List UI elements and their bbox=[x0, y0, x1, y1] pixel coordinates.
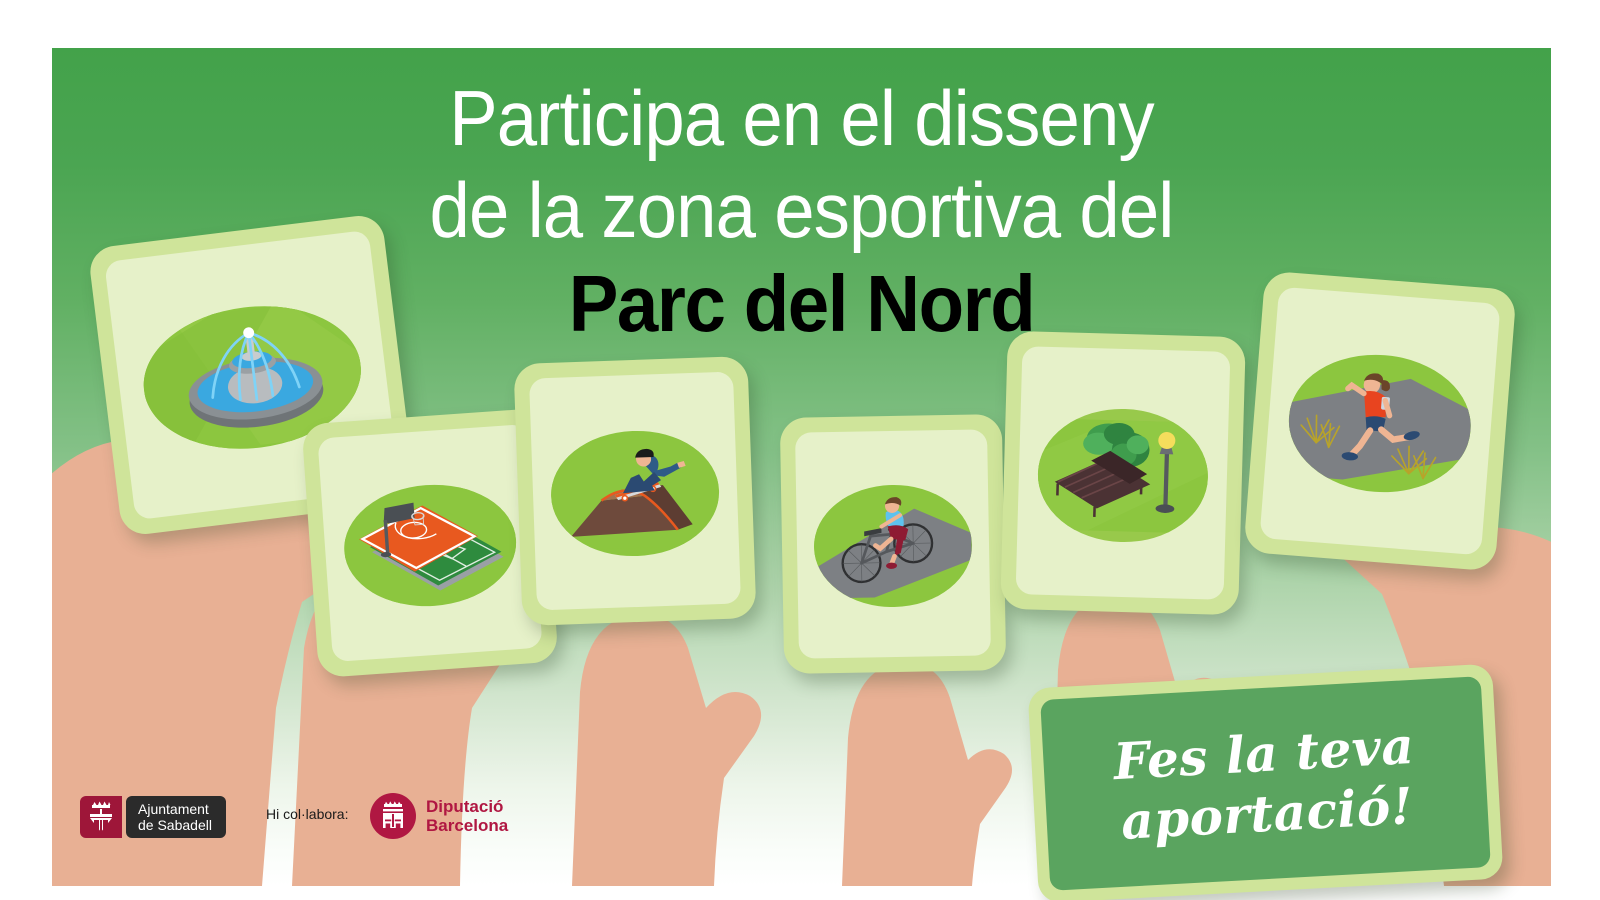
ajuntament-line-2: de Sabadell bbox=[138, 817, 212, 833]
card-bike-path[interactable] bbox=[780, 414, 1006, 674]
card-face bbox=[795, 429, 991, 658]
diputacio-crest-icon bbox=[370, 793, 416, 839]
card-face bbox=[317, 424, 542, 662]
card-face bbox=[1016, 346, 1231, 600]
card-face bbox=[1259, 287, 1500, 556]
runner-icon bbox=[1284, 349, 1476, 499]
diputacio-line-1: Diputació bbox=[426, 797, 508, 816]
card-running-path[interactable] bbox=[1243, 271, 1516, 572]
collaboration-label: Hi col·labora: bbox=[266, 806, 348, 822]
card-face bbox=[529, 372, 741, 611]
headline-line-1: Participa en el disseny bbox=[104, 72, 1498, 164]
ajuntament-line-1: Ajuntament bbox=[138, 801, 212, 817]
sabadell-crest-icon bbox=[80, 796, 122, 838]
ajuntament-sabadell-logo[interactable]: Ajuntament de Sabadell bbox=[80, 796, 226, 838]
banner-canvas: Participa en el disseny de la zona espor… bbox=[0, 0, 1600, 900]
skateboarder-icon bbox=[549, 428, 721, 559]
ajuntament-name: Ajuntament de Sabadell bbox=[126, 796, 226, 838]
footer-logos: Ajuntament de Sabadell Hi col·labora: bbox=[52, 790, 1551, 860]
diputacio-name: Diputació Barcelona bbox=[426, 797, 508, 835]
card-ground-ellipse bbox=[1284, 349, 1476, 499]
card-ground-ellipse bbox=[340, 479, 520, 612]
card-ground-ellipse bbox=[1036, 406, 1210, 545]
diputacio-barcelona-logo[interactable]: Diputació Barcelona bbox=[370, 793, 508, 839]
cyclist-icon bbox=[813, 484, 973, 609]
card-ground-ellipse bbox=[813, 484, 973, 609]
card-ground-ellipse bbox=[549, 428, 721, 559]
diputacio-line-2: Barcelona bbox=[426, 816, 508, 835]
bench-tree-lamp-icon bbox=[1036, 406, 1210, 545]
basketball-court-icon bbox=[340, 479, 520, 612]
callout-box[interactable]: Fes la teva aportació! bbox=[1028, 664, 1504, 900]
card-skate-ramp[interactable] bbox=[513, 356, 756, 626]
card-park-bench[interactable] bbox=[1000, 331, 1246, 616]
